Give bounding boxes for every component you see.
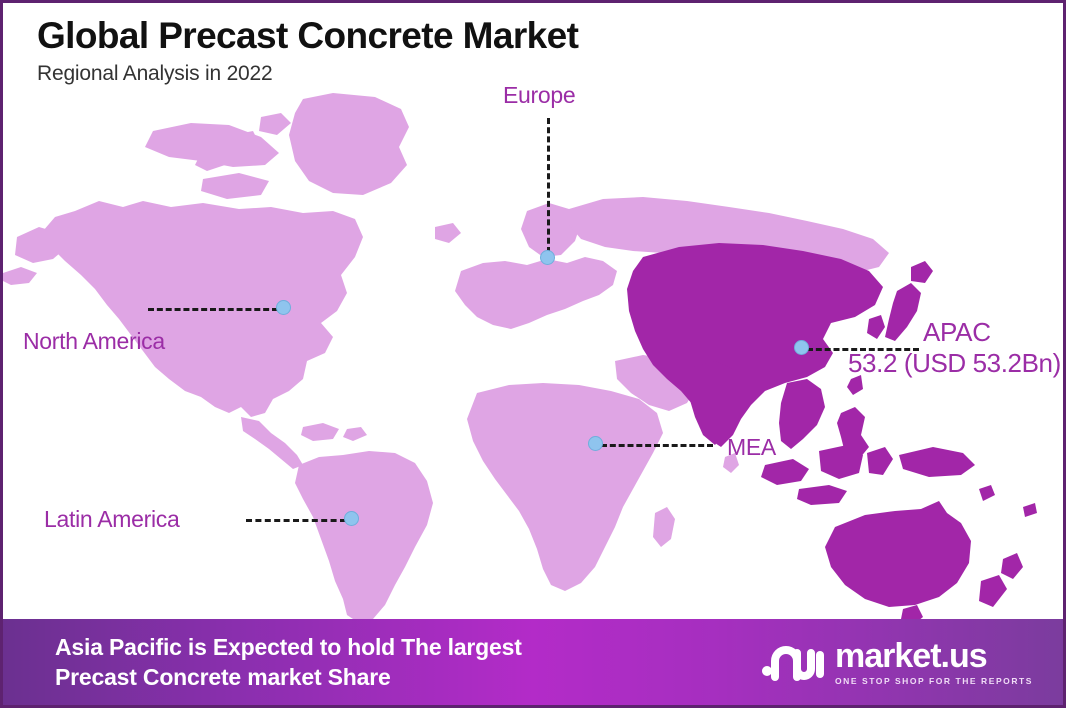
region-madagascar (653, 507, 675, 547)
region-new-zealand-south (979, 575, 1007, 607)
region-arctic-isles-2 (201, 173, 269, 199)
leader-line-europe (547, 118, 550, 253)
region-japan (885, 283, 921, 341)
footer-banner: Asia Pacific is Expected to hold The lar… (3, 619, 1063, 705)
banner-headline-line-1: Asia Pacific is Expected to hold The lar… (55, 632, 522, 662)
region-new-guinea (899, 447, 975, 477)
logo-name: market.us (835, 639, 1033, 673)
region-indochina (779, 379, 825, 449)
marker-dot-europe[interactable] (540, 250, 555, 265)
region-sulawesi (867, 447, 893, 475)
market-us-logo[interactable]: market.us ONE STOP SHOP FOR THE REPORTS (761, 637, 1033, 688)
map-regions-highlight (627, 243, 1037, 625)
region-canada-arctic (145, 123, 279, 167)
page-subtitle: Regional Analysis in 2022 (37, 62, 578, 86)
banner-headline-line-2: Precast Concrete market Share (55, 662, 522, 692)
region-japan-north (911, 261, 933, 283)
leader-line-latin-america (246, 519, 346, 522)
region-korea (867, 315, 885, 339)
header: Global Precast Concrete Market Regional … (37, 17, 578, 86)
region-africa (467, 383, 663, 591)
region-greenland (289, 93, 409, 195)
leader-line-north-america (148, 308, 278, 311)
banner-headline: Asia Pacific is Expected to hold The lar… (55, 632, 522, 693)
region-label-north-america: North America (23, 329, 165, 355)
region-value-apac: 53.2 (USD 53.2Bn) (848, 348, 1061, 379)
region-label-latin-america: Latin America (44, 507, 179, 533)
region-caribbean (301, 423, 367, 441)
market-us-logo-icon (761, 637, 825, 688)
region-new-zealand-north (1001, 553, 1023, 579)
region-indonesia-java (797, 485, 847, 505)
region-iceland (435, 223, 461, 243)
logo-tagline: ONE STOP SHOP FOR THE REPORTS (835, 676, 1033, 686)
region-australia (825, 501, 971, 607)
region-south-america (295, 451, 433, 623)
region-aleutians (3, 267, 37, 285)
region-label-apac: APAC (923, 318, 991, 347)
region-label-mea: MEA (727, 435, 776, 461)
page-title: Global Precast Concrete Market (37, 17, 578, 56)
region-pacific-isles (979, 485, 1037, 517)
region-europe (455, 257, 617, 329)
leader-line-mea (601, 444, 713, 447)
marker-dot-mea[interactable] (588, 436, 603, 451)
region-label-europe: Europe (503, 83, 575, 109)
region-central-america (241, 417, 303, 469)
marker-dot-north-america[interactable] (276, 300, 291, 315)
region-indonesia-sumatra (761, 459, 809, 485)
market-us-logo-text: market.us ONE STOP SHOP FOR THE REPORTS (835, 639, 1033, 686)
infographic-canvas: Global Precast Concrete Market Regional … (0, 0, 1066, 708)
marker-dot-apac[interactable] (794, 340, 809, 355)
marker-dot-latin-america[interactable] (344, 511, 359, 526)
